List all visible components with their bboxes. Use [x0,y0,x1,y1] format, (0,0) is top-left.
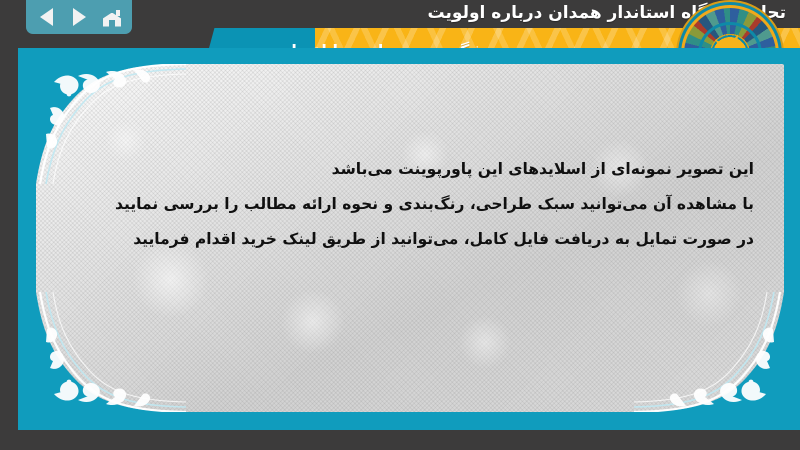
back-button[interactable] [33,4,59,30]
slide-body-line-1: این تصویر نمونه‌ای از اسلایدهای این پاور… [96,152,754,187]
navigation-bar [26,0,132,34]
arabesque-corner-ornament-bottom-right [634,292,784,412]
home-chimney-shape [116,10,120,16]
presentation-viewer: تحلیل دیدگاه استاندار همدان درباره اولوی… [0,0,800,450]
slide-body-line-2: با مشاهده آن می‌توانید سبک طراحی، رنگ‌بن… [96,187,754,222]
slide-body-text: این تصویر نمونه‌ای از اسلایدهای این پاور… [96,152,754,257]
triangle-left-icon [40,8,53,26]
slide-page: این تصویر نمونه‌ای از اسلایدهای این پاور… [36,64,784,412]
home-button[interactable] [99,4,125,30]
arabesque-corner-ornament-bottom-left [36,292,186,412]
slide-body-line-3: در صورت تمایل به دریافت فایل کامل، می‌تو… [96,222,754,257]
slide-frame: این تصویر نمونه‌ای از اسلایدهای این پاور… [18,48,800,430]
forward-button[interactable] [66,4,92,30]
triangle-right-icon [73,8,86,26]
home-icon [102,8,122,27]
